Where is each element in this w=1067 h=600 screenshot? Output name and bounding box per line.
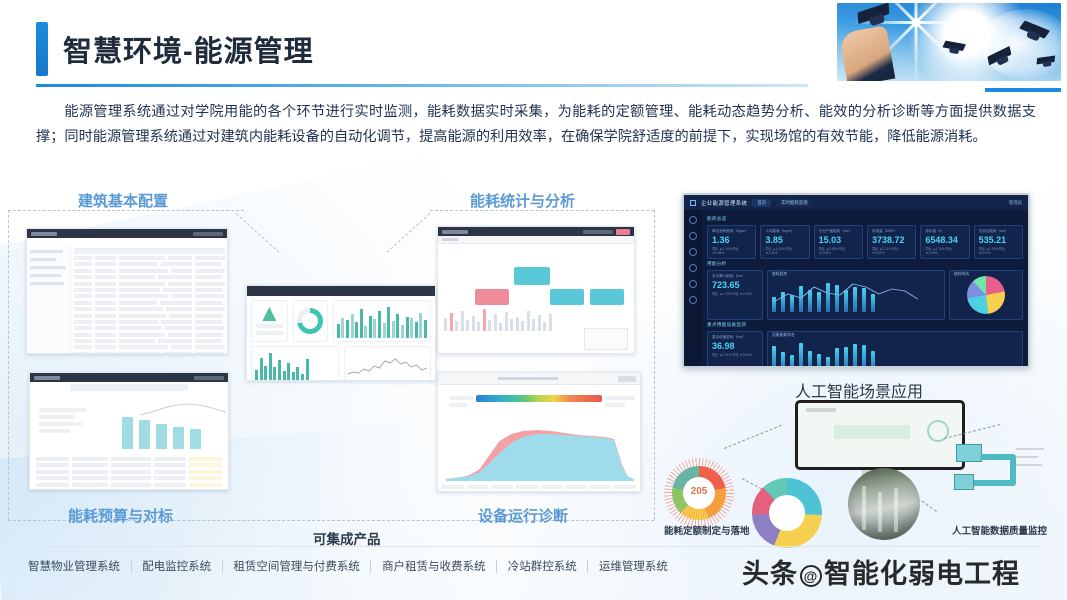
dashboard-section-analysis: 用能分析 bbox=[707, 261, 1023, 267]
line-chart-svg bbox=[348, 350, 427, 380]
alert-badge bbox=[616, 229, 630, 235]
mini-bar-chart bbox=[255, 350, 335, 380]
table-row bbox=[36, 483, 222, 487]
kpi-card: 用电量（kWh） 3738.72 同比 ▲3.11% 环比 ▼0.52% bbox=[867, 225, 916, 259]
dashboard-section-overview: 能耗总览 bbox=[707, 216, 1023, 222]
table-header bbox=[74, 248, 225, 254]
user-menu-icon bbox=[194, 376, 224, 380]
kpi-sub: 同比 ▲2.14% 环比 ▼0.86% bbox=[712, 246, 751, 255]
dashboard-tab-second[interactable]: 实时能耗监测 bbox=[776, 199, 812, 207]
section-label-energy-stats: 能耗统计与分析 bbox=[470, 190, 575, 211]
dashboard-section-device: 重点用能设备监测 bbox=[707, 322, 1023, 328]
table-row bbox=[74, 307, 225, 311]
user-menu-icon bbox=[583, 230, 613, 234]
table-row bbox=[36, 457, 222, 461]
table-row bbox=[74, 345, 225, 349]
bottom-divider bbox=[28, 546, 1040, 547]
energy-quota-donut-chart: 205 bbox=[672, 466, 726, 520]
product-item: 租赁空间管理与付费系统 bbox=[233, 558, 360, 574]
kpi-value: 15.03 bbox=[819, 234, 858, 246]
table-row bbox=[36, 470, 222, 474]
product-separator bbox=[370, 560, 371, 573]
dashboard-title: 企业能源管理系统 bbox=[701, 199, 747, 207]
callout-line bbox=[1016, 464, 1042, 466]
kpi-sub: 同比 ▲1.20% 环比 ▼0.75% bbox=[712, 291, 758, 296]
axis-labels bbox=[442, 485, 636, 489]
screenshot-table bbox=[72, 246, 227, 353]
table-row bbox=[74, 262, 225, 266]
pipe-shape bbox=[862, 486, 866, 530]
product-list: 智慧物业管理系统 配电监控系统 租赁空间管理与付费系统 商户租赁与收费系统 冷站… bbox=[28, 558, 668, 574]
sun-ray-icon bbox=[915, 3, 918, 81]
screenshot-body-lower bbox=[247, 346, 435, 381]
table-row bbox=[74, 275, 225, 279]
callout-line bbox=[1016, 456, 1038, 458]
callout-line bbox=[1016, 448, 1044, 450]
legend-box bbox=[584, 328, 628, 350]
page-title-bar: 智慧环境-能源管理 bbox=[36, 22, 314, 76]
table-row bbox=[74, 326, 225, 330]
pipe-shape bbox=[894, 488, 898, 532]
dashboard-sidebar[interactable] bbox=[684, 210, 702, 366]
dashboard-tab-active[interactable]: 首页 bbox=[752, 199, 771, 207]
kpi-card: 万元产值能耗（tce） 15.03 同比 ▲0.45% 环比 ▼2.08% bbox=[814, 225, 863, 259]
table-row bbox=[74, 288, 225, 292]
kpi-right bbox=[600, 393, 634, 410]
product-separator bbox=[222, 560, 223, 573]
raised-arm bbox=[839, 25, 896, 81]
caption-energy-quota: 能耗定额制定与落地 bbox=[664, 523, 750, 537]
kpi-value: 6548.34 bbox=[925, 234, 964, 246]
watermark: 头条@智能化弱电工程 bbox=[742, 552, 1020, 591]
kpi-sub: 同比 ▲1.02% 环比 ▼1.31% bbox=[765, 246, 804, 255]
screenshot-device-diagnosis[interactable] bbox=[437, 372, 641, 492]
kpi-card: 用水量（t） 6548.34 同比 ▲1.76% 环比 ▼1.04% bbox=[920, 225, 969, 259]
table-row bbox=[74, 294, 225, 298]
ai-data-quality-illustration bbox=[952, 440, 1048, 510]
dashboard-user[interactable]: 管理员 bbox=[1009, 200, 1022, 206]
product-item: 智慧物业管理系统 bbox=[28, 558, 120, 574]
kpi-card bbox=[251, 300, 288, 342]
table-row bbox=[74, 256, 225, 260]
table-row bbox=[74, 314, 225, 318]
page-tab-bar bbox=[70, 384, 188, 391]
kpi-left bbox=[444, 393, 472, 410]
header-photo-underline bbox=[985, 88, 1061, 92]
screenshot-energy-overview[interactable] bbox=[246, 285, 436, 381]
panel-pie: 能耗构成 bbox=[949, 270, 1023, 320]
table-row bbox=[74, 339, 225, 343]
watermark-prefix: 头条 bbox=[742, 559, 798, 589]
screenshot-energy-budget[interactable] bbox=[29, 372, 229, 490]
donut-center-value: 205 bbox=[672, 486, 726, 497]
area-chart bbox=[446, 425, 634, 481]
section-label-device-diagnosis: 设备运行诊断 bbox=[478, 505, 568, 526]
app-logo-icon bbox=[34, 376, 60, 380]
kpi-sub: 同比 ▲0.45% 环比 ▼2.08% bbox=[819, 246, 858, 255]
app-logo-icon bbox=[31, 232, 57, 236]
kpi-value: 3738.72 bbox=[872, 234, 911, 246]
progress-ring-icon bbox=[297, 308, 323, 334]
page-title: 智慧环境-能源管理 bbox=[63, 28, 314, 70]
imac-screen-content bbox=[798, 403, 962, 467]
bar-chart-card bbox=[251, 346, 339, 381]
caption-data-quality: 人工智能数据质量监控 bbox=[952, 523, 1047, 537]
menu-icon[interactable] bbox=[690, 200, 696, 206]
table-row bbox=[74, 333, 225, 337]
kpi-sub: 同比 ▲0.93% 环比 ▼0.37% bbox=[979, 246, 1018, 255]
screenshot-subbar bbox=[438, 373, 640, 385]
screenshot-body bbox=[247, 296, 435, 346]
watermark-at-icon: @ bbox=[800, 565, 822, 587]
slide-root: 智慧环境-能源管理 能源管理系统通过对学院用能的各个环节进行实时监测，能耗数据实… bbox=[0, 0, 1067, 600]
product-item: 商户租赁与收费系统 bbox=[382, 558, 486, 574]
dashed-line-right bbox=[654, 210, 655, 520]
product-item: 冷站群控系统 bbox=[508, 558, 577, 574]
screenshot-topbar bbox=[247, 286, 435, 296]
kpi-card: 人均能耗（kgce） 3.85 同比 ▲1.02% 环比 ▼1.31% bbox=[760, 225, 809, 259]
device-bar-chart bbox=[768, 340, 1022, 368]
section-label-integrable-products: 可集成产品 bbox=[313, 528, 381, 548]
imac-screen bbox=[795, 400, 965, 470]
mini-bar-chart bbox=[337, 304, 427, 338]
kpi-card-monthly: 本月累计能耗（tce） 723.65 同比 ▲1.20% 环比 ▼0.75% bbox=[707, 270, 763, 320]
screenshot-topbar bbox=[30, 373, 228, 382]
product-item: 运维管理系统 bbox=[599, 558, 668, 574]
table-row bbox=[74, 282, 225, 286]
kpi-sub: 同比 ▲3.11% 环比 ▼0.52% bbox=[872, 246, 911, 255]
kpi-sub: 同比 ▲1.76% 环比 ▼1.04% bbox=[925, 246, 964, 255]
area-chart-svg bbox=[446, 425, 634, 481]
panel-trend: 能耗趋势 bbox=[767, 270, 945, 320]
kpi-value: 3.85 bbox=[765, 234, 804, 246]
screenshot-subbar bbox=[438, 236, 634, 244]
user-menu-icon bbox=[193, 232, 223, 236]
panel-title: 设备能耗排名 bbox=[772, 333, 795, 338]
table-row bbox=[74, 352, 225, 354]
home-icon[interactable] bbox=[689, 216, 697, 224]
panel-title: 能耗趋势 bbox=[772, 272, 787, 277]
equipment-box bbox=[956, 444, 982, 462]
report-icon[interactable] bbox=[689, 296, 697, 304]
table-row bbox=[74, 301, 225, 305]
kpi-sub: 同比 ▲2.01% 环比 ▼0.64% bbox=[712, 352, 758, 357]
screenshot-energy-stats[interactable] bbox=[437, 226, 635, 354]
pipe-shape bbox=[878, 492, 882, 532]
header-photo bbox=[837, 3, 1061, 81]
kpi-row: 单位面积能耗（kgce） 1.36 同比 ▲2.14% 环比 ▼0.86% 人均… bbox=[707, 225, 1023, 259]
product-item: 配电监控系统 bbox=[142, 558, 211, 574]
settings-icon[interactable] bbox=[689, 280, 697, 288]
product-separator bbox=[587, 560, 588, 573]
body-paragraph-block: 能源管理系统通过对学院用能的各个环节进行实时监测，能耗数据实时采集，为能耗的定额… bbox=[36, 100, 1036, 150]
screenshot-sidebar bbox=[27, 246, 71, 353]
section-label-energy-budget: 能耗预算与对标 bbox=[68, 505, 173, 526]
kpi-value: 723.65 bbox=[712, 279, 758, 291]
filter-panel bbox=[34, 405, 94, 436]
screenshot-topbar bbox=[438, 227, 634, 236]
dashboard-topbar: 企业能源管理系统 首页 实时能耗监测 管理员 bbox=[684, 195, 1028, 210]
product-separator bbox=[131, 560, 132, 573]
mini-bar-chart bbox=[444, 299, 628, 331]
chart-icon[interactable] bbox=[689, 248, 697, 256]
facility-photo-circle bbox=[848, 468, 920, 540]
screenshot-enterprise-energy-dashboard[interactable]: 企业能源管理系统 首页 实时能耗监测 管理员 能耗总览 单位面积能耗（kgce）… bbox=[682, 193, 1030, 368]
gauge-card bbox=[293, 300, 328, 342]
kpi-card: 单位面积能耗（kgce） 1.36 同比 ▲2.14% 环比 ▼0.86% bbox=[707, 225, 756, 259]
leaf-icon bbox=[262, 307, 276, 321]
app-logo-icon bbox=[442, 230, 468, 234]
kpi-value: 1.36 bbox=[712, 234, 751, 246]
table-row bbox=[36, 463, 222, 467]
kpi-value: 36.98 bbox=[712, 340, 758, 352]
table-row bbox=[74, 269, 225, 273]
title-underline bbox=[36, 84, 808, 87]
tree-node-card bbox=[514, 267, 550, 285]
watermark-suffix: 智能化弱电工程 bbox=[824, 559, 1020, 589]
screenshot-topbar bbox=[27, 229, 227, 238]
pipe-segment bbox=[970, 480, 1016, 486]
grid-icon[interactable] bbox=[689, 232, 697, 240]
energy-composition-donut-chart bbox=[752, 478, 822, 548]
title-accent-bar bbox=[36, 22, 48, 76]
product-separator bbox=[496, 560, 497, 573]
line-chart-card bbox=[344, 346, 431, 381]
data-table bbox=[36, 457, 222, 489]
pie-chart bbox=[967, 276, 1005, 314]
trend-line-svg bbox=[772, 281, 934, 311]
kpi-card-device: 重点设备能耗（tce） 36.98 同比 ▲2.01% 环比 ▼0.64% bbox=[707, 331, 763, 368]
building-icon[interactable] bbox=[689, 264, 697, 272]
status-gauge-bar bbox=[476, 395, 602, 402]
table-row bbox=[74, 320, 225, 324]
kpi-card: 总综合能耗（tce） 535.21 同比 ▲0.93% 环比 ▼0.37% bbox=[974, 225, 1023, 259]
section-label-ai-scene: 人工智能场景应用 bbox=[795, 378, 923, 402]
dashboard-main: 能耗总览 单位面积能耗（kgce） 1.36 同比 ▲2.14% 环比 ▼0.8… bbox=[702, 210, 1028, 366]
panel-title: 能耗构成 bbox=[954, 272, 969, 277]
section-label-building-config: 建筑基本配置 bbox=[78, 190, 168, 211]
body-paragraph: 能源管理系统通过对学院用能的各个环节进行实时监测，能耗数据实时采集，为能耗的定额… bbox=[36, 100, 1036, 150]
screen-diagram bbox=[834, 425, 909, 439]
cloud-icon bbox=[981, 9, 1061, 79]
dashed-line-left bbox=[8, 210, 9, 520]
export-button[interactable] bbox=[618, 376, 636, 382]
bar-chart bbox=[122, 415, 204, 449]
screenshot-building-config[interactable] bbox=[26, 228, 228, 354]
bar-chart-card bbox=[333, 300, 431, 342]
panel-device-ranking: 设备能耗排名 bbox=[767, 331, 1023, 368]
screen-toolbar bbox=[806, 408, 836, 412]
kpi-value: 535.21 bbox=[979, 234, 1018, 246]
table-row bbox=[36, 476, 222, 480]
equipment-box bbox=[954, 474, 974, 490]
